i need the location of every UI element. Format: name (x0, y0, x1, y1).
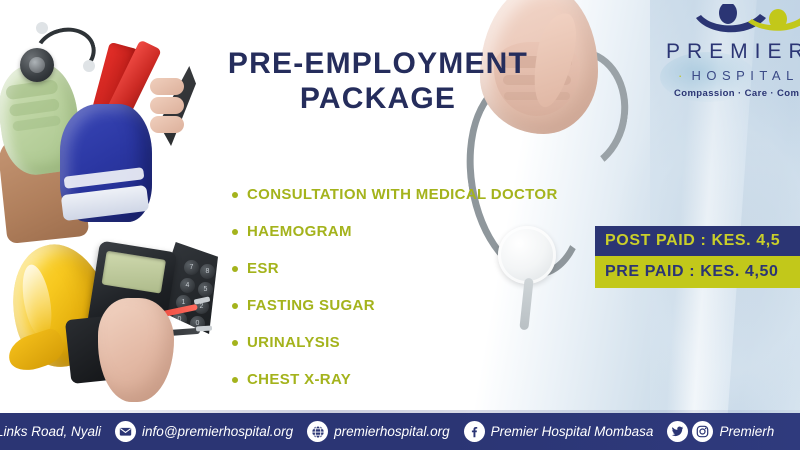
email-icon[interactable] (115, 421, 136, 442)
list-item-label: CHEST X-RAY (247, 371, 351, 388)
bullet-dot-icon (232, 192, 238, 198)
brand-logo: PREMIER · HOSPITAL Compassion · Care · C… (660, 4, 800, 108)
list-item-label: ESR (247, 260, 279, 277)
hand-holding-meter-icon (98, 298, 174, 402)
safety-equipment-photo-group: 7 8 4 5 1 2 0 0 (6, 238, 216, 414)
list-item-label: CONSULTATION WITH MEDICAL DOCTOR (247, 186, 558, 203)
contact-footer: Links Road, Nyali info@premierhospital.o… (0, 413, 800, 450)
instagram-icon[interactable] (692, 421, 713, 442)
post-paid-price: POST PAID : KES. 4,5 (595, 226, 800, 256)
keypad-key: 8 (200, 264, 215, 279)
hard-hat-brim-icon (4, 326, 68, 376)
multimeter-screen (101, 251, 166, 294)
twitter-icon[interactable] (667, 421, 688, 442)
list-item: HAEMOGRAM (232, 213, 632, 250)
footer-address: Links Road, Nyali (0, 424, 101, 439)
bullet-dot-icon (232, 266, 238, 272)
medical-equipment-photo-group (0, 22, 200, 222)
list-item-label: HAEMOGRAM (247, 223, 352, 240)
bullet-dot-icon (232, 340, 238, 346)
list-item-label: URINALYSIS (247, 334, 340, 351)
poster-canvas: 7 8 4 5 1 2 0 0 (0, 0, 800, 450)
price-block: POST PAID : KES. 4,5 PRE PAID : KES. 4,5… (595, 226, 800, 288)
footer-email[interactable]: info@premierhospital.org (142, 424, 293, 439)
bullet-dot-icon (232, 377, 238, 383)
headline-line-1: PRE-EMPLOYMENT (228, 47, 528, 80)
footer-facebook[interactable]: Premier Hospital Mombasa (491, 424, 654, 439)
list-item: CHEST X-RAY (232, 361, 632, 398)
keypad-key: 7 (184, 260, 199, 275)
logo-tagline: Compassion · Care · Com (674, 88, 799, 99)
list-item: ESR (232, 250, 632, 287)
premier-hospital-mark-icon (694, 4, 800, 38)
probe-tip-icon (196, 325, 212, 331)
logo-sub-text: HOSPITAL (691, 68, 798, 83)
page-title: PRE-EMPLOYMENT PACKAGE (198, 46, 558, 117)
headline-line-2: PACKAGE (198, 81, 558, 116)
list-item: URINALYSIS (232, 324, 632, 361)
service-list: CONSULTATION WITH MEDICAL DOCTOR HAEMOGR… (232, 176, 632, 398)
list-item: CONSULTATION WITH MEDICAL DOCTOR (232, 176, 632, 213)
footer-website[interactable]: premierhospital.org (334, 424, 450, 439)
list-item-label: FASTING SUGAR (247, 297, 375, 314)
list-item: FASTING SUGAR (232, 287, 632, 324)
logo-wordmark: PREMIER (666, 40, 800, 64)
fingers-icon (150, 78, 194, 144)
bullet-dot-icon (232, 303, 238, 309)
keypad-key: 5 (198, 282, 213, 297)
stethoscope-eartip-icon (36, 22, 48, 34)
stethoscope-diaphragm-icon (20, 48, 54, 82)
logo-sub-dot: · (678, 68, 682, 83)
logo-subwordmark: · HOSPITAL (678, 68, 799, 83)
bullet-dot-icon (232, 229, 238, 235)
pre-paid-price: PRE PAID : KES. 4,50 (595, 256, 800, 288)
stethoscope-eartip-icon (83, 60, 95, 72)
facebook-icon[interactable] (464, 421, 485, 442)
keypad-key: 4 (180, 278, 195, 293)
footer-social-handle[interactable]: Premierh (719, 424, 774, 439)
globe-icon[interactable] (307, 421, 328, 442)
